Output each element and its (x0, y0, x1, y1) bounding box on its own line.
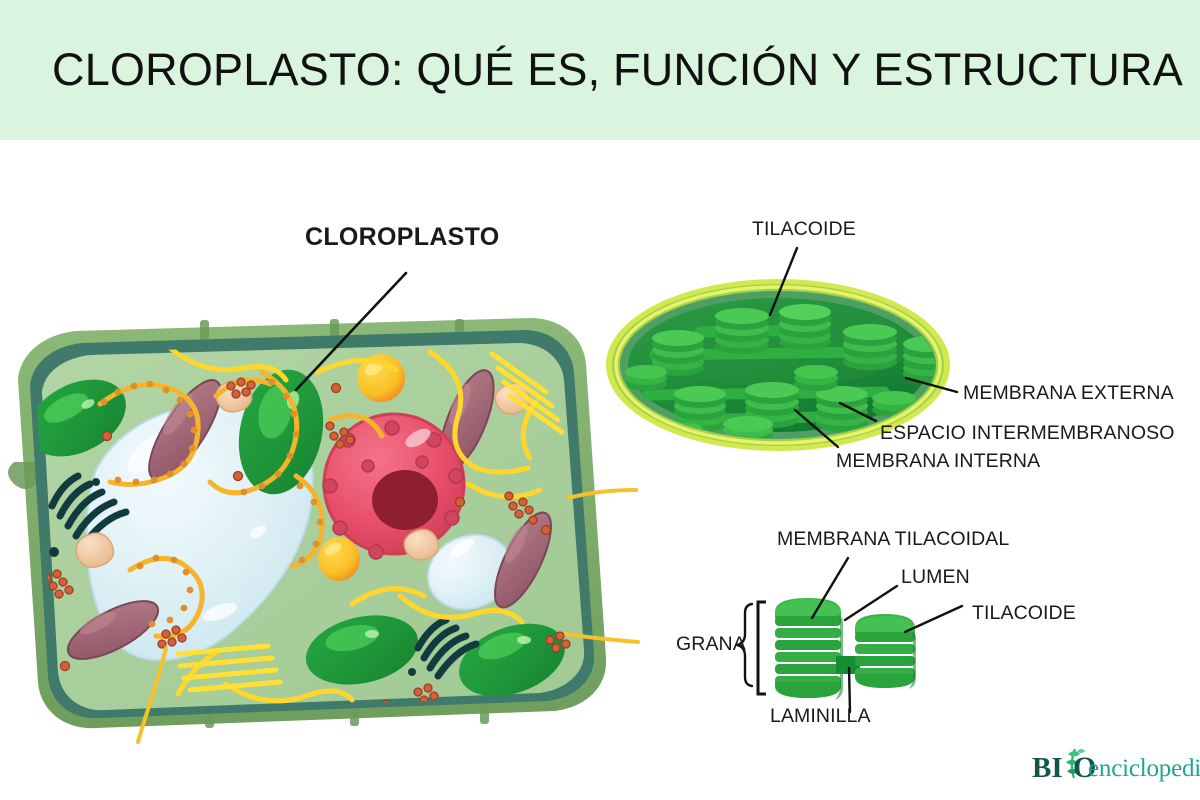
leader-membrana-externa (906, 378, 957, 392)
cell-wall-notches (8, 319, 489, 728)
smooth-endoplasmic-reticulum (170, 348, 540, 701)
label-grana: GRANA (676, 633, 746, 655)
leader-membrana-interna (795, 410, 838, 447)
label-espacio-intermembranoso: ESPACIO INTERMEMBRANOSO (880, 422, 1174, 444)
label-membrana-tilacoidal: MEMBRANA TILACOIDAL (777, 528, 1009, 550)
grana-square-bracket (758, 602, 766, 694)
leader-tilacoide-grana (905, 606, 962, 632)
plant-cell-illustration (8, 273, 638, 742)
outer-membrane-line (616, 287, 940, 443)
leader-lumen (845, 586, 897, 620)
nucleolus (372, 470, 438, 530)
er-ribosome-beads (101, 379, 324, 628)
stroma-highlight (646, 303, 910, 387)
granum-stack-left (775, 598, 843, 700)
golgi-apparatus (49, 476, 126, 557)
inner-membrane (620, 291, 936, 439)
mitochondria (60, 364, 562, 671)
leader-espacio-intermembranoso (840, 403, 876, 421)
chloroplast-leader-lines (770, 248, 957, 447)
leader-tilacoide (770, 248, 797, 315)
nuclear-pores (323, 421, 463, 559)
label-lumen: LUMEN (901, 566, 970, 588)
cell-membrane (30, 330, 594, 718)
laminilla-bridge (836, 656, 860, 674)
golgi-apparatus-2 (408, 620, 476, 676)
label-membrana-externa: MEMBRANA EXTERNA (963, 382, 1174, 404)
peroxisomes (76, 380, 529, 567)
vacuole-highlight (121, 425, 268, 625)
granum-stack-right (855, 614, 916, 689)
poster-canvas: CLOROPLASTO: QUÉ ES, FUNCIÓN Y ESTRUCTUR… (0, 0, 1200, 800)
logo-bio-text: BI (1032, 752, 1063, 785)
vacuole (86, 403, 312, 660)
nucleus (323, 414, 464, 559)
rough-endoplasmic-reticulum (100, 372, 382, 637)
microtubule-bundles (178, 354, 562, 690)
small-vacuole (417, 523, 524, 622)
label-tilacoide: TILACOIDE (752, 218, 856, 240)
free-ribosomes (43, 378, 570, 710)
cell-leader-lines (138, 490, 638, 742)
leader-membrana-tilacoidal (812, 558, 848, 618)
cloroplasto-leader-line (296, 273, 406, 390)
chloroplast-organelles (15, 362, 575, 710)
cell-wall (18, 318, 606, 728)
lipid-droplets (318, 354, 405, 581)
label-tilacoide-grana: TILACOIDE (972, 602, 1076, 624)
logo-enciclopedia-text: enciclopedia (1088, 755, 1200, 783)
label-membrana-interna: MEMBRANA INTERNA (836, 450, 1040, 472)
stroma (628, 298, 928, 432)
cytoplasm (42, 343, 584, 710)
bioenciclopedia-logo[interactable]: BI O enciclopedia (1032, 752, 1192, 786)
cell-chloroplast-label: CLOROPLASTO (305, 226, 500, 248)
page-title: CLOROPLASTO: QUÉ ES, FUNCIÓN Y ESTRUCTUR… (52, 44, 1152, 96)
label-laminilla: LAMINILLA (770, 705, 871, 727)
